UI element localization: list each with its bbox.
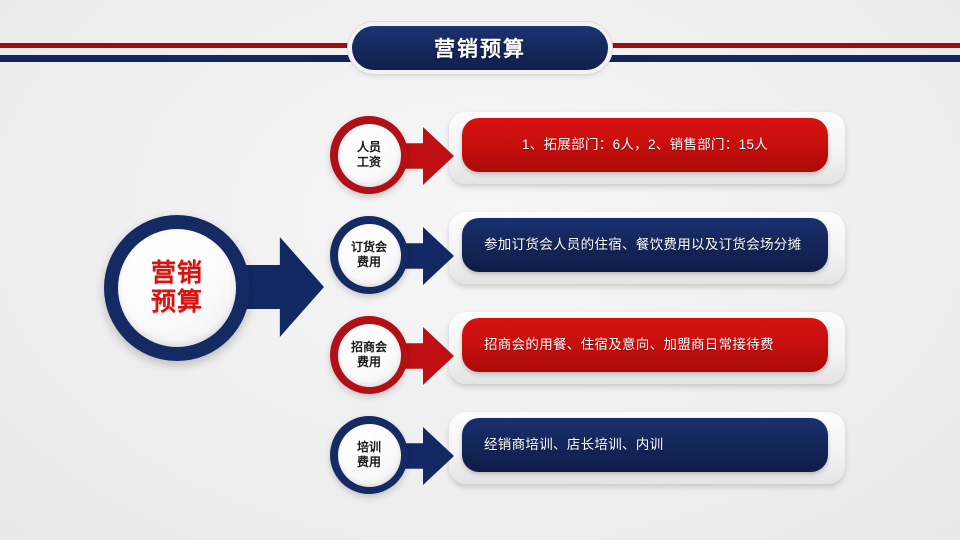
page-title: 营销预算 [434,33,526,63]
content-box-1-text: 1、拓展部门：6人，2、销售部门：15人 [462,135,828,155]
content-box-2[interactable]: 参加订货会人员的住宿、餐饮费用以及订货会场分摊 [462,218,828,272]
content-box-4-text: 经销商培训、店长培训、内训 [462,435,828,455]
content-box-3[interactable]: 招商会的用餐、住宿及意向、加盟商日常接待费 [462,318,828,372]
content-box-4[interactable]: 经销商培训、店长培训、内训 [462,418,828,472]
slide-canvas: 营销预算 营销 预算 人员 工资 1、拓展部门：6人，2、销售部门：15人 订货… [0,0,960,540]
hub-label-line2: 预算 [151,288,203,318]
node-4-label-line2: 费用 [357,455,381,470]
node-circle-2-inner: 订货会 费用 [338,224,401,287]
node-1-label-line1: 人员 [357,140,381,155]
row-item: 培训 费用 经销商培训、店长培训、内训 [0,408,960,508]
slide-title-pill: 营销预算 [352,26,608,70]
node-4-label-line1: 培训 [357,440,381,455]
node-1-label-line2: 工资 [357,155,381,170]
node-circle-2[interactable]: 订货会 费用 [330,216,408,294]
content-box-2-text: 参加订货会人员的住宿、餐饮费用以及订货会场分摊 [462,235,828,255]
node-3-label-line1: 招商会 [351,340,387,355]
node-circle-1-inner: 人员 工资 [338,124,401,187]
hub-circle: 营销 预算 [104,215,250,361]
content-box-3-text: 招商会的用餐、住宿及意向、加盟商日常接待费 [462,335,828,355]
node-2-label-line1: 订货会 [351,240,387,255]
node-circle-4-inner: 培训 费用 [338,424,401,487]
content-box-1[interactable]: 1、拓展部门：6人，2、销售部门：15人 [462,118,828,172]
hub-label-line1: 营销 [151,259,203,289]
node-circle-3[interactable]: 招商会 费用 [330,316,408,394]
node-circle-1[interactable]: 人员 工资 [330,116,408,194]
hub-circle-inner: 营销 预算 [118,229,236,347]
node-circle-4[interactable]: 培训 费用 [330,416,408,494]
node-3-label-line2: 费用 [357,355,381,370]
node-2-label-line2: 费用 [357,255,381,270]
row-item: 人员 工资 1、拓展部门：6人，2、销售部门：15人 [0,108,960,208]
node-circle-3-inner: 招商会 费用 [338,324,401,387]
